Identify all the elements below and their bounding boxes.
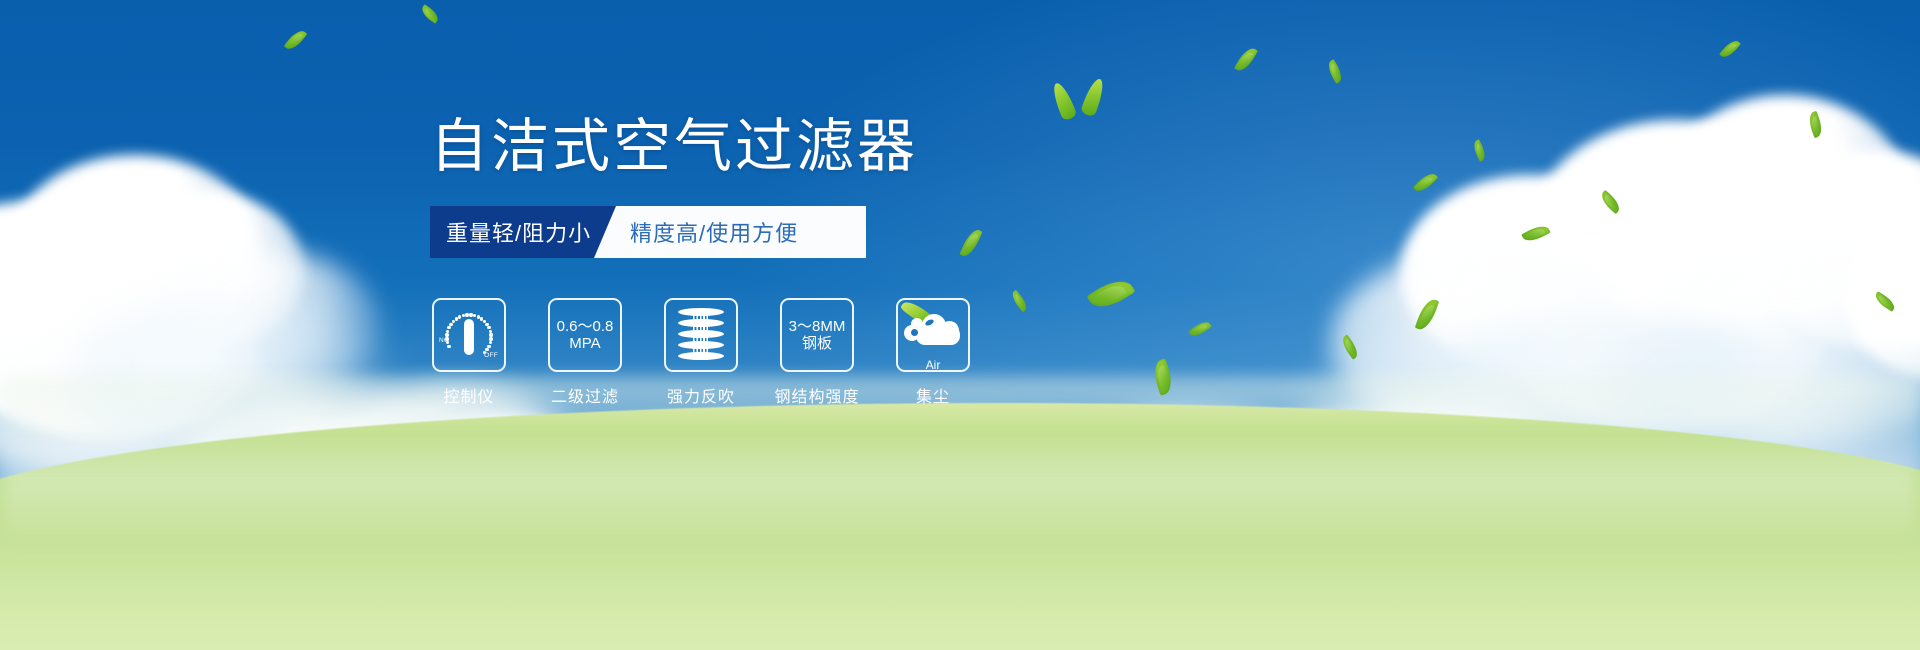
steel-spec-line1: 3～8MM	[789, 318, 846, 335]
dial-tick	[473, 314, 476, 317]
leaf-icon	[1049, 81, 1077, 122]
feature-label: 二级过滤	[551, 383, 619, 407]
feature-label: 控制仪	[443, 383, 494, 407]
air-cloud-icon: Air	[902, 309, 964, 361]
control-dial-icon: NO OFF	[439, 307, 499, 363]
hero-banner: 自洁式空气过滤器 重量轻/阻力小 精度高/使用方便 NO OFF 控	[0, 0, 1920, 650]
feature-label: 钢结构强度	[775, 383, 860, 407]
feature-label: 强力反吹	[667, 383, 735, 407]
feature-list: NO OFF 控制仪 0.6～0.8 MPA 二级过滤	[430, 298, 1130, 407]
dial-off-label: OFF	[484, 352, 498, 359]
leaf-icon	[1080, 77, 1107, 118]
dial-tick	[449, 323, 452, 326]
dial-pointer	[464, 319, 474, 355]
dial-tick	[487, 326, 490, 329]
tag-group: 重量轻/阻力小 精度高/使用方便	[430, 206, 830, 258]
grass-light-band	[0, 429, 1920, 533]
feature-item-two-stage-filter[interactable]: 0.6～0.8 MPA 二级过滤	[546, 298, 624, 407]
dial-tick	[447, 345, 450, 348]
dial-tick	[446, 330, 449, 333]
dial-tick	[445, 337, 448, 340]
dial-tick	[445, 333, 448, 336]
feature-icon-box: 3～8MM 钢板	[780, 298, 854, 372]
feature-icon-box: 0.6～0.8 MPA	[548, 298, 622, 372]
steel-spec-line2: 钢板	[802, 335, 832, 352]
dial-tick	[489, 341, 492, 344]
feature-item-dust-collection[interactable]: Air 集尘	[894, 298, 972, 407]
pressure-value-line1: 0.6～0.8	[557, 318, 614, 335]
feature-icon-box: Air	[896, 298, 970, 372]
title-row: 自洁式空气过滤器	[430, 118, 1130, 176]
air-label: Air	[902, 358, 964, 372]
dial-tick	[447, 326, 450, 329]
feature-item-controller[interactable]: NO OFF 控制仪	[430, 298, 508, 407]
dial-tick	[458, 315, 461, 318]
feature-item-strong-backflush[interactable]: 强力反吹	[662, 298, 740, 407]
pressure-value-line2: MPA	[569, 335, 600, 352]
title-leaf-decoration	[1052, 74, 1112, 126]
feature-icon-box: NO OFF	[432, 298, 506, 372]
feature-label: 集尘	[916, 383, 950, 407]
filter-coil-icon	[678, 307, 724, 363]
page-title: 自洁式空气过滤器	[430, 118, 1130, 176]
tag-high-precision-easy-use[interactable]: 精度高/使用方便	[594, 206, 866, 258]
banner-content: 自洁式空气过滤器 重量轻/阻力小 精度高/使用方便 NO OFF 控	[430, 118, 1130, 407]
feature-icon-box	[664, 298, 738, 372]
feature-item-steel-strength[interactable]: 3～8MM 钢板 钢结构强度	[778, 298, 856, 407]
